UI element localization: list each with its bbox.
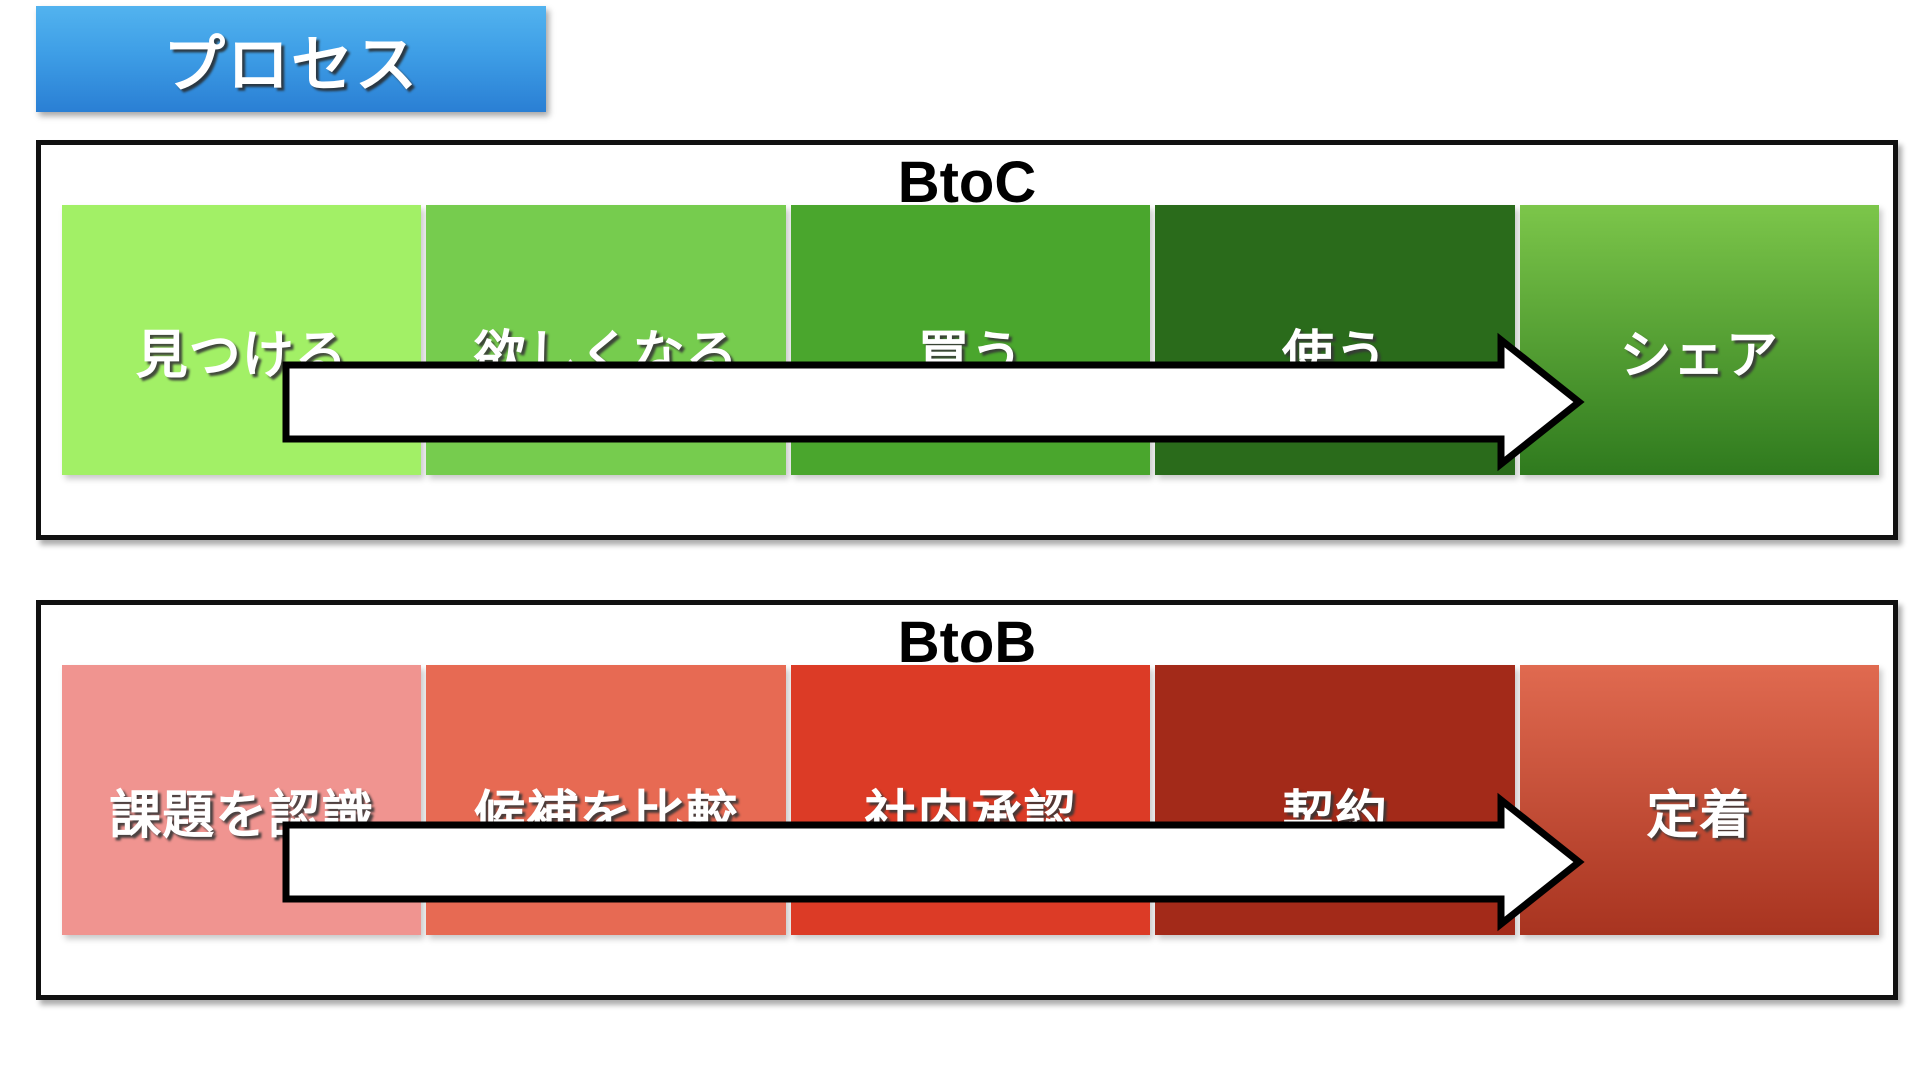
- panel-btob-stage-row: 課題を認識 候補を比較 社内承認 契約 定着: [62, 665, 1879, 935]
- section-badge: プロセス: [36, 6, 546, 112]
- stage-box-label: 課題を認識: [109, 773, 374, 848]
- stage-box[interactable]: 定着: [1520, 665, 1879, 935]
- section-badge-label: プロセス: [163, 14, 419, 104]
- stage-box[interactable]: 契約: [1155, 665, 1514, 935]
- stage-box[interactable]: 買う: [791, 205, 1150, 475]
- panel-btob: BtoB 課題を認識 候補を比較 社内承認 契約 定着: [36, 600, 1898, 1000]
- panel-btoc: BtoC 見つける 欲しくなる 買う 使う シェア: [36, 140, 1898, 540]
- stage-box-label: 候補を比較: [474, 773, 739, 848]
- stage-box[interactable]: 見つける: [62, 205, 421, 475]
- stage-box[interactable]: 社内承認: [791, 665, 1150, 935]
- stage-box-label: 欲しくなる: [474, 313, 739, 388]
- stage-box-label: 使う: [1282, 313, 1388, 388]
- stage-box[interactable]: シェア: [1520, 205, 1879, 475]
- stage-box-label: 買う: [918, 313, 1024, 388]
- stage-box-label: シェア: [1620, 313, 1779, 388]
- stage-box[interactable]: 欲しくなる: [426, 205, 785, 475]
- stage-box-label: 定着: [1646, 773, 1752, 848]
- stage-box-label: 契約: [1282, 773, 1388, 848]
- stage-box[interactable]: 課題を認識: [62, 665, 421, 935]
- stage-box[interactable]: 使う: [1155, 205, 1514, 475]
- slide-canvas: プロセス BtoC 見つける 欲しくなる 買う 使う シェア: [0, 0, 1920, 1080]
- panel-btoc-stage-row: 見つける 欲しくなる 買う 使う シェア: [62, 205, 1879, 475]
- stage-box[interactable]: 候補を比較: [426, 665, 785, 935]
- stage-box-label: 見つける: [136, 313, 348, 388]
- stage-box-label: 社内承認: [865, 773, 1077, 848]
